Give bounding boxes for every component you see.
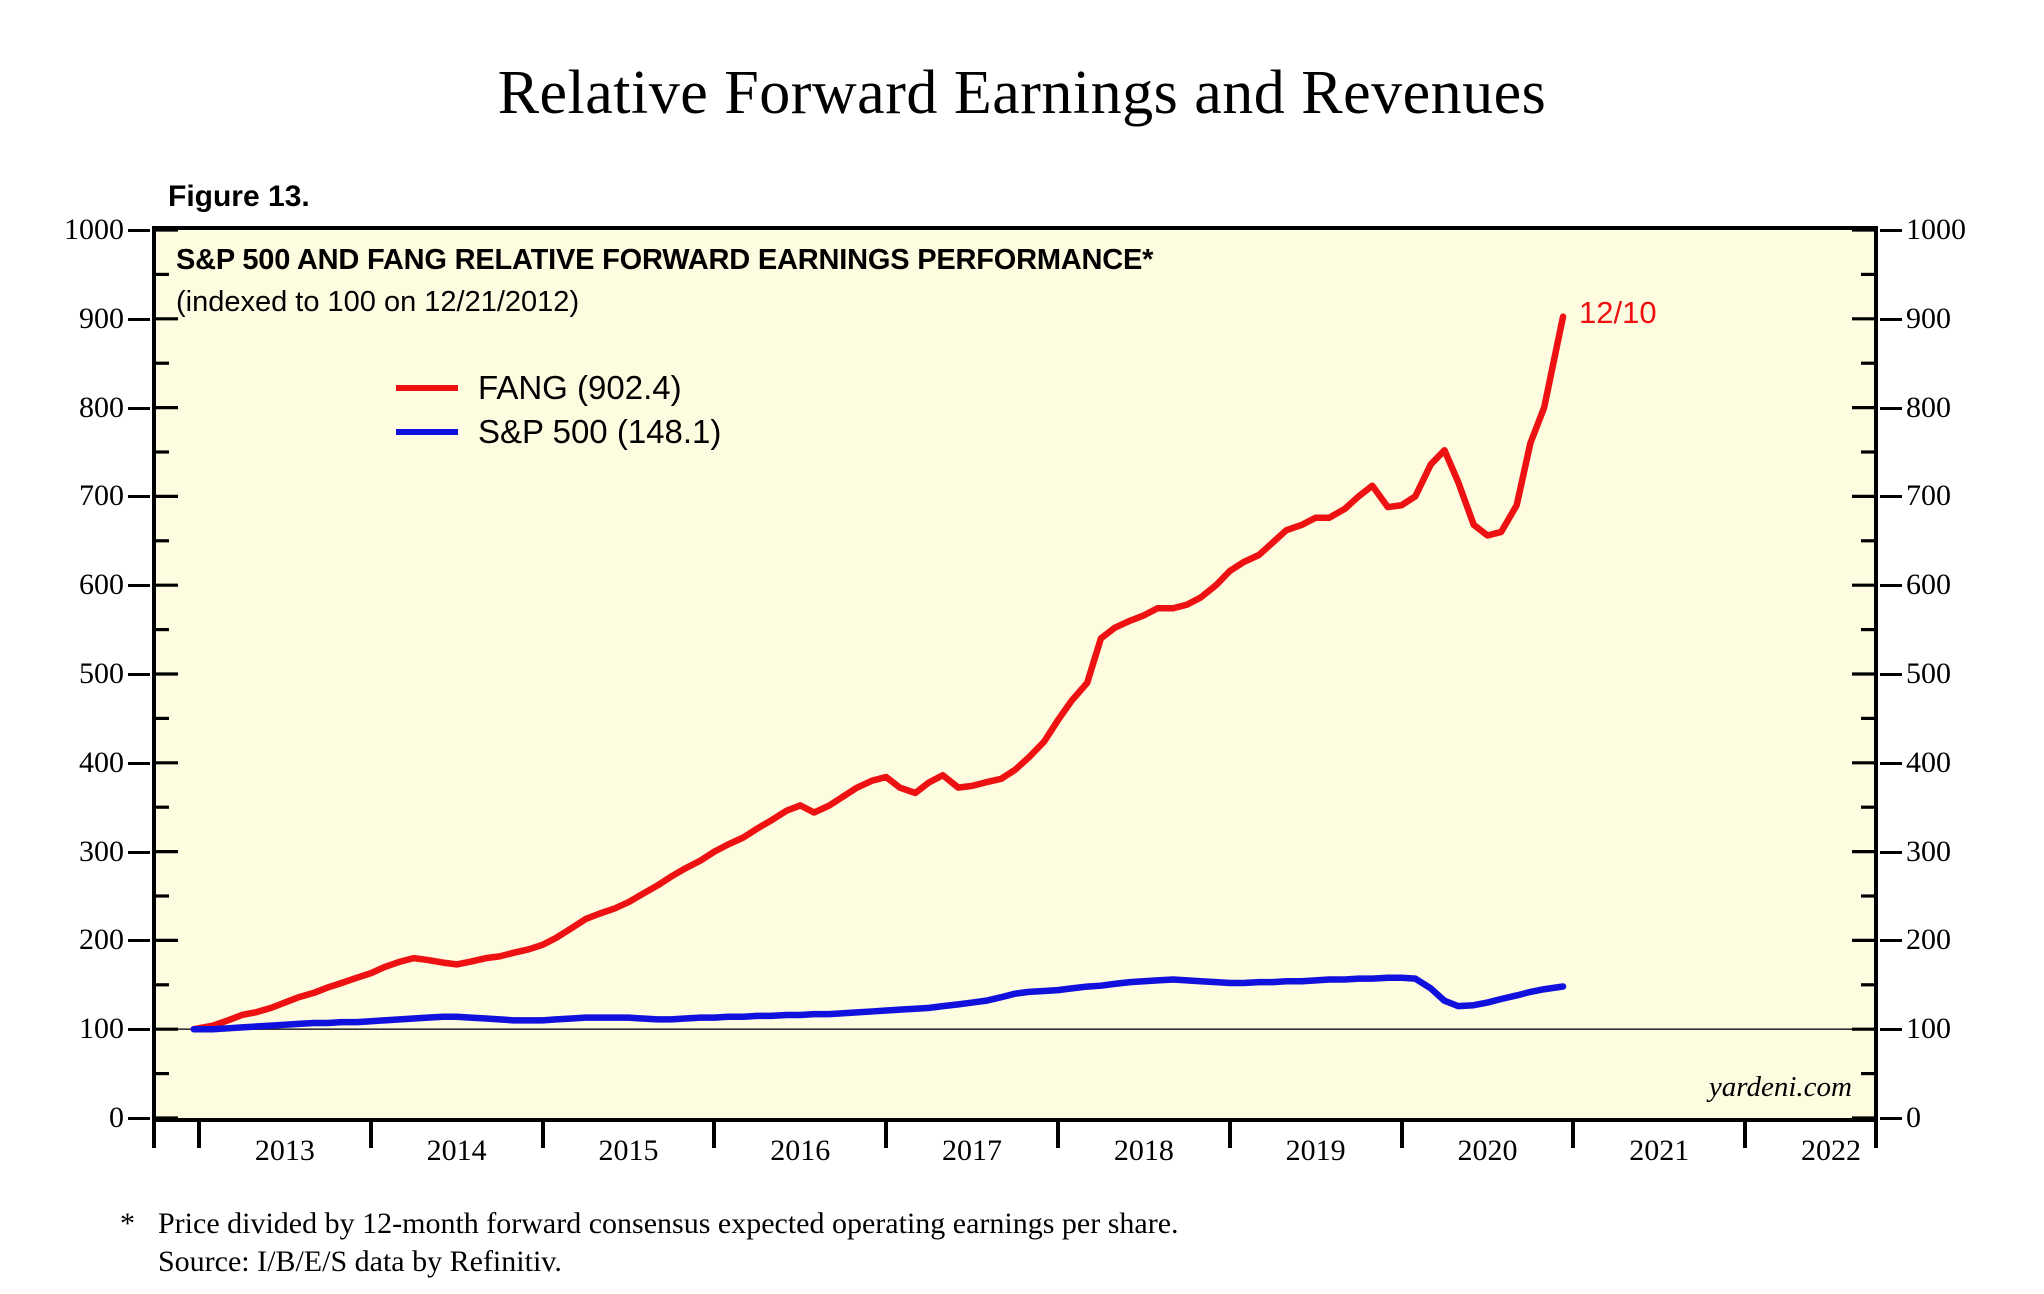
y-axis-tick-label-right: 400 xyxy=(1906,748,2006,778)
x-axis-tick xyxy=(1743,1122,1747,1148)
y-axis-tick-label-right: 600 xyxy=(1906,570,2006,600)
legend-item-fang: FANG (902.4) xyxy=(396,366,721,410)
y-axis-tick-label-left: 200 xyxy=(24,925,124,955)
y-axis-stub-tick-right xyxy=(1880,939,1902,942)
figure-label: Figure 13. xyxy=(168,180,310,214)
footnote-line-2: Source: I/B/E/S data by Refinitiv. xyxy=(158,1243,1179,1281)
y-axis-stub-tick-left xyxy=(128,584,150,587)
x-axis-tick xyxy=(712,1122,716,1148)
y-axis-stub-tick-left xyxy=(128,1117,150,1120)
series-line-s-p-500 xyxy=(194,978,1563,1029)
y-axis-stub-tick-right xyxy=(1880,584,1902,587)
chart-plot-area: S&P 500 AND FANG RELATIVE FORWARD EARNIN… xyxy=(152,226,1878,1122)
y-axis-tick-label-left: 300 xyxy=(24,837,124,867)
y-axis-tick-label-left: 0 xyxy=(24,1103,124,1133)
x-axis-tick xyxy=(1056,1122,1060,1148)
y-axis-stub-tick-left xyxy=(128,407,150,410)
panel-subtitle: (indexed to 100 on 12/21/2012) xyxy=(176,286,579,319)
y-axis-tick-label-left: 100 xyxy=(24,1014,124,1044)
annotation-last-date: 12/10 xyxy=(1579,295,1657,331)
x-axis-tick-label: 2014 xyxy=(377,1134,537,1168)
y-axis-stub-tick-left xyxy=(128,851,150,854)
x-axis-tick xyxy=(541,1122,545,1148)
legend-item-sp500: S&P 500 (148.1) xyxy=(396,410,721,454)
y-axis-tick-label-right: 1000 xyxy=(1906,215,2006,245)
x-axis-tick xyxy=(1400,1122,1404,1148)
x-axis-tick xyxy=(884,1122,888,1148)
y-axis-stub-tick-right xyxy=(1880,762,1902,765)
y-axis-stub-tick-left xyxy=(128,1028,150,1031)
chart-legend: FANG (902.4) S&P 500 (148.1) xyxy=(396,366,721,454)
footnote-line-1: *Price divided by 12-month forward conse… xyxy=(120,1205,1179,1243)
y-axis-stub-tick-left xyxy=(128,673,150,676)
x-axis-tick-label: 2019 xyxy=(1236,1134,1396,1168)
y-axis-tick-label-left: 500 xyxy=(24,659,124,689)
x-axis-tick xyxy=(152,1122,156,1148)
y-axis-tick-label-right: 800 xyxy=(1906,393,2006,423)
footnote-star: * xyxy=(120,1205,158,1243)
footnote-text-1: Price divided by 12-month forward consen… xyxy=(158,1207,1179,1240)
footnotes: *Price divided by 12-month forward conse… xyxy=(120,1205,1179,1281)
y-axis-stub-tick-left xyxy=(128,495,150,498)
y-axis-tick-label-left: 800 xyxy=(24,393,124,423)
x-axis-tick xyxy=(369,1122,373,1148)
x-axis-tick xyxy=(1228,1122,1232,1148)
legend-label-fang: FANG (902.4) xyxy=(478,369,682,407)
y-axis-tick-label-right: 900 xyxy=(1906,304,2006,334)
y-axis-tick-label-left: 1000 xyxy=(24,215,124,245)
y-axis-tick-label-left: 400 xyxy=(24,748,124,778)
y-axis-stub-tick-right xyxy=(1880,495,1902,498)
y-axis-stub-tick-right xyxy=(1880,407,1902,410)
y-axis-tick-label-right: 200 xyxy=(1906,925,2006,955)
y-axis-tick-label-right: 500 xyxy=(1906,659,2006,689)
page-title: Relative Forward Earnings and Revenues xyxy=(0,58,2044,129)
y-axis-stub-tick-right xyxy=(1880,229,1902,232)
y-axis-stub-tick-right xyxy=(1880,1117,1902,1120)
x-axis-tick-label: 2022 xyxy=(1751,1134,1911,1168)
panel-title: S&P 500 AND FANG RELATIVE FORWARD EARNIN… xyxy=(176,244,1153,277)
y-axis-tick-label-right: 700 xyxy=(1906,481,2006,511)
y-axis-stub-tick-left xyxy=(128,762,150,765)
y-axis-tick-label-right: 300 xyxy=(1906,837,2006,867)
x-axis-tick xyxy=(197,1122,201,1148)
x-axis-tick-label: 2018 xyxy=(1064,1134,1224,1168)
x-axis-tick-label: 2015 xyxy=(548,1134,708,1168)
y-axis-tick-label-left: 900 xyxy=(24,304,124,334)
y-axis-stub-tick-left xyxy=(128,939,150,942)
chart-page: Relative Forward Earnings and Revenues F… xyxy=(0,0,2044,1294)
x-axis-tick-label: 2017 xyxy=(892,1134,1052,1168)
y-axis-stub-tick-right xyxy=(1880,673,1902,676)
y-axis-stub-tick-right xyxy=(1880,1028,1902,1031)
y-axis-tick-label-right: 100 xyxy=(1906,1014,2006,1044)
watermark: yardeni.com xyxy=(1709,1071,1852,1104)
legend-swatch-sp500 xyxy=(396,429,458,435)
y-axis-tick-label-left: 700 xyxy=(24,481,124,511)
legend-label-sp500: S&P 500 (148.1) xyxy=(478,413,721,451)
x-axis-tick xyxy=(1571,1122,1575,1148)
x-axis-tick-label: 2016 xyxy=(720,1134,880,1168)
x-axis-tick-label: 2021 xyxy=(1579,1134,1739,1168)
chart-canvas xyxy=(156,230,1874,1118)
y-axis-tick-label-right: 0 xyxy=(1906,1103,2006,1133)
y-axis-stub-tick-left xyxy=(128,318,150,321)
x-axis-tick-label: 2013 xyxy=(205,1134,365,1168)
legend-swatch-fang xyxy=(396,385,458,391)
x-axis-tick xyxy=(1874,1122,1878,1148)
x-axis-tick-label: 2020 xyxy=(1407,1134,1567,1168)
y-axis-stub-tick-left xyxy=(128,229,150,232)
y-axis-stub-tick-right xyxy=(1880,851,1902,854)
y-axis-stub-tick-right xyxy=(1880,318,1902,321)
y-axis-tick-label-left: 600 xyxy=(24,570,124,600)
